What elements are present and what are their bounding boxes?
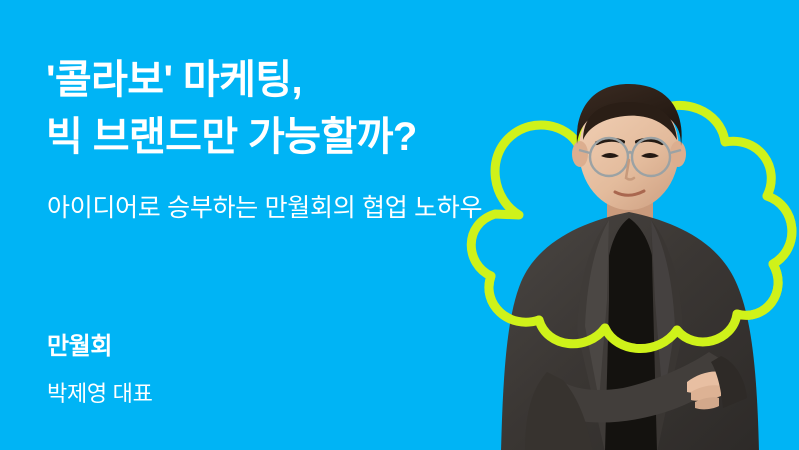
speaker-organization: 만월회 <box>47 332 153 362</box>
headline-line-2: 빅 브랜드만 가능할까? <box>46 109 566 166</box>
page-title: '콜라보' 마케팅, 빅 브랜드만 가능할까? <box>46 52 566 166</box>
headline-line-1: '콜라보' 마케팅, <box>46 52 566 109</box>
subtitle: 아이디어로 승부하는 만월회의 협업 노하우 <box>47 192 482 224</box>
speaker-info: 만월회 박제영 대표 <box>47 332 153 408</box>
speaker-name-title: 박제영 대표 <box>47 380 153 408</box>
webinar-promo-card: '콜라보' 마케팅, 빅 브랜드만 가능할까? 아이디어로 승부하는 만월회의 … <box>0 0 799 450</box>
text-column: '콜라보' 마케팅, 빅 브랜드만 가능할까? 아이디어로 승부하는 만월회의 … <box>46 0 546 450</box>
